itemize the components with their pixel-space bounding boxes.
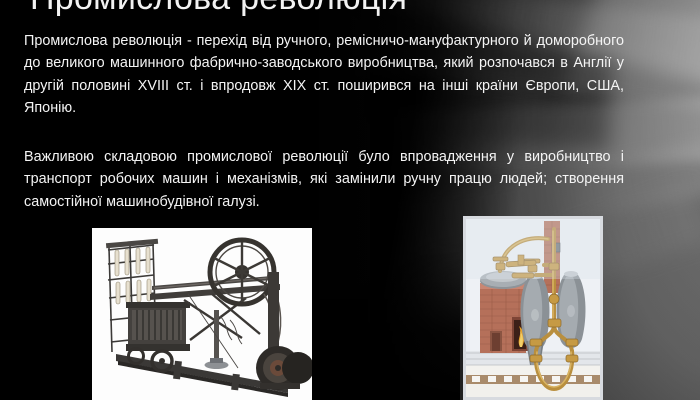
- body-paragraph-1: Промислова революція - перехід від ручно…: [24, 30, 624, 120]
- image-spinning-mule[interactable]: [92, 228, 312, 400]
- body-paragraph-2: Важливою складовою промислової революції…: [24, 146, 624, 213]
- image-steam-engine[interactable]: [463, 216, 603, 400]
- spinning-mule-drawing: [92, 228, 312, 400]
- slide-title: Промислова революція: [30, 0, 407, 18]
- steam-engine-drawing: [466, 219, 600, 397]
- slide: Промислова революція Промислова революці…: [0, 0, 700, 400]
